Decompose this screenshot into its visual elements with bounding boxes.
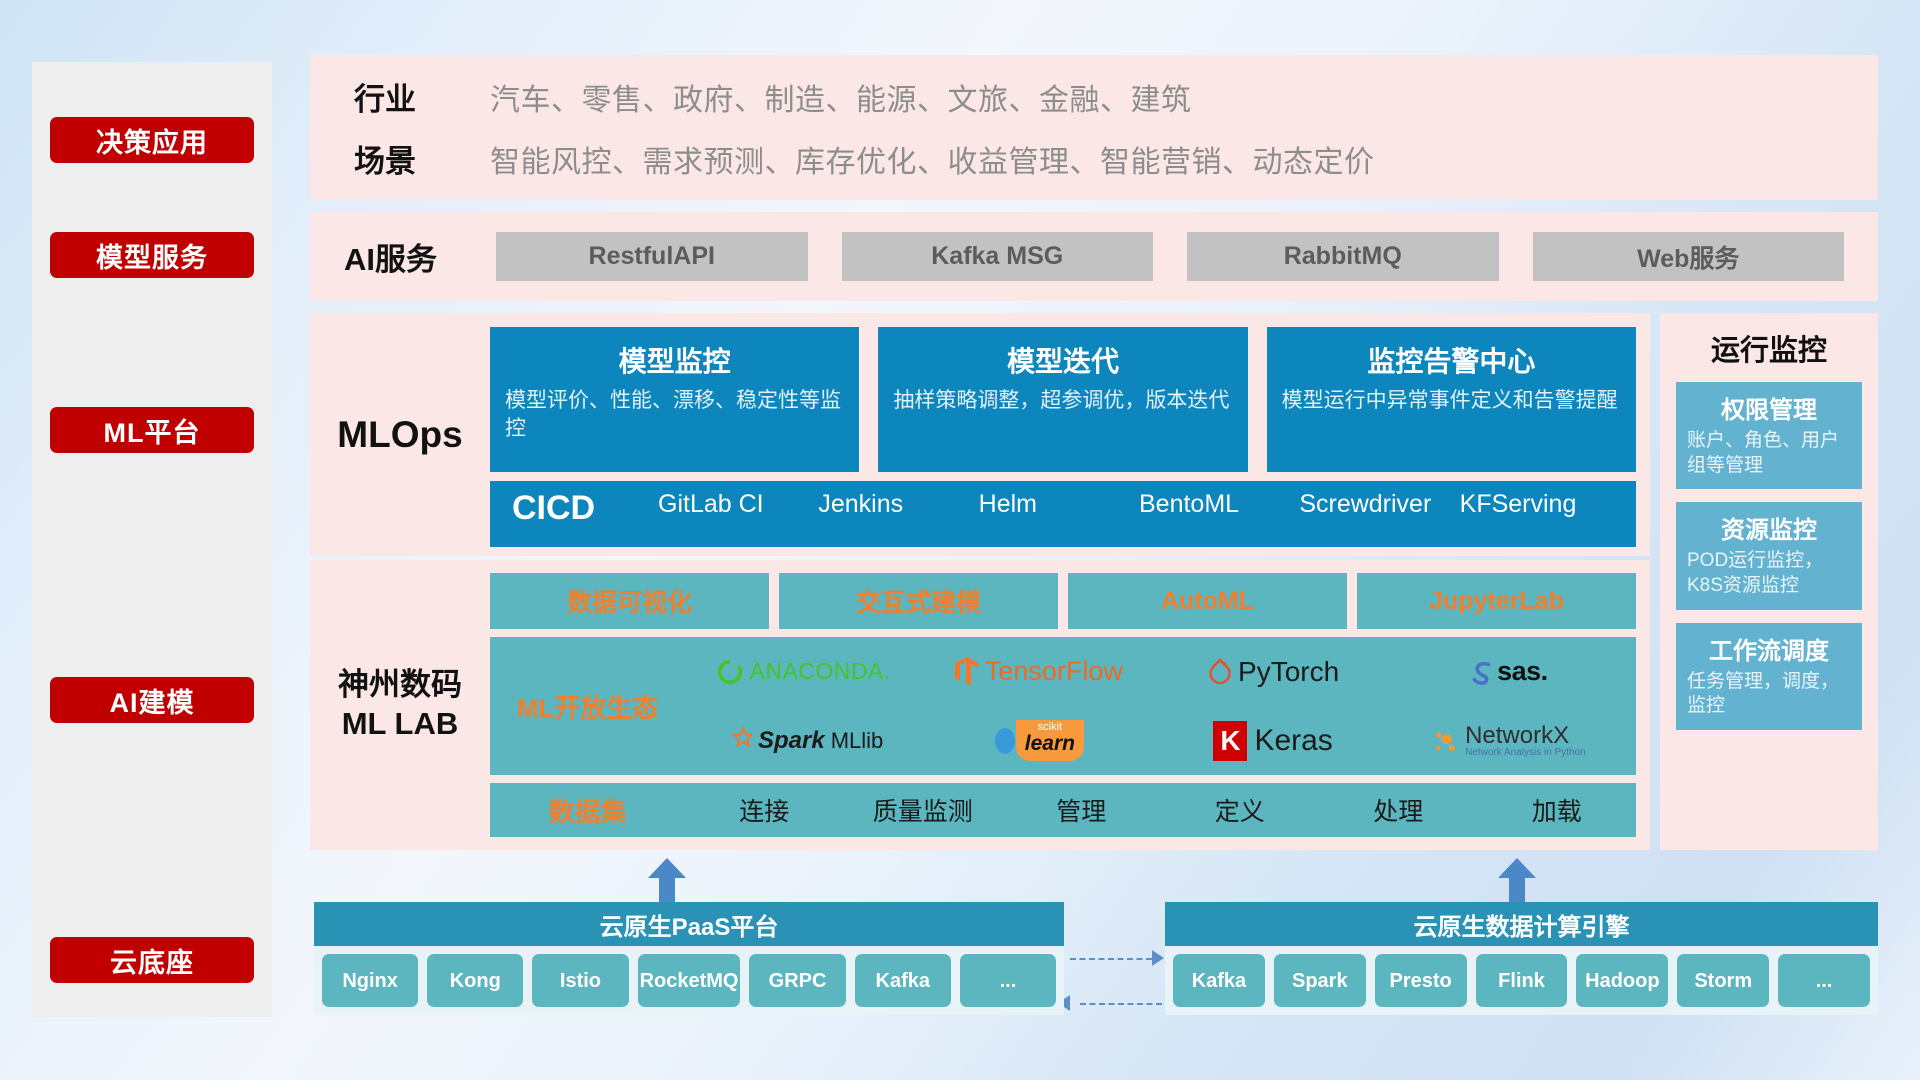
compute-chip-list: Kafka Spark Presto Flink Hadoop Storm ..… xyxy=(1165,946,1878,1015)
cicd-item-kfserving[interactable]: KFServing xyxy=(1454,489,1614,519)
ai-modeling-panel: 神州数码 ML LAB 数据可视化 交互式建模 AutoML JupyterLa… xyxy=(310,560,1650,850)
runtime-monitoring-panel: 运行监控 权限管理 账户、角色、用户组等管理 资源监控 POD运行监控，K8S资… xyxy=(1660,313,1878,850)
layer-rail: 决策应用 模型服务 ML平台 AI建模 云底座 xyxy=(32,62,272,1017)
paas-chip-istio[interactable]: Istio xyxy=(532,954,628,1007)
dataset-label: 数据集 xyxy=(490,792,685,829)
scenario-key: 场景 xyxy=(310,136,490,181)
card-title: 监控告警中心 xyxy=(1282,340,1621,380)
mlops-card-list: 模型监控 模型评价、性能、漂移、稳定性等监控 模型迭代 抽样策略调整，超参调优，… xyxy=(490,327,1636,472)
rail-label: ML平台 xyxy=(104,411,201,450)
scenario-row: 场景 智能风控、需求预测、库存优化、收益管理、智能营销、动态定价 xyxy=(310,128,1878,190)
spark-mllib-logo: Spark MLlib xyxy=(722,726,883,756)
rail-item-cloud-base[interactable]: 云底座 xyxy=(50,937,254,983)
paas-chip-kafka[interactable]: Kafka xyxy=(855,954,951,1007)
mlops-key: MLOps xyxy=(310,313,490,556)
mlops-panel: MLOps 模型监控 模型评价、性能、漂移、稳定性等监控 模型迭代 抽样策略调整… xyxy=(310,313,1650,556)
mlops-card-model-iteration[interactable]: 模型迭代 抽样策略调整，超参调优，版本迭代 xyxy=(878,327,1247,472)
dataset-item-define[interactable]: 定义 xyxy=(1161,792,1320,828)
paas-chip-nginx[interactable]: Nginx xyxy=(322,954,418,1007)
card-desc: 抽样策略调整，超参调优，版本迭代 xyxy=(893,387,1232,415)
rail-label: AI建模 xyxy=(110,681,195,720)
industry-value: 汽车、零售、政府、制造、能源、文旅、金融、建筑 xyxy=(490,75,1192,119)
ops-card-resource-monitoring[interactable]: 资源监控 POD运行监控，K8S资源监控 xyxy=(1676,502,1862,609)
dataset-item-load[interactable]: 加载 xyxy=(1478,792,1637,828)
ops-card-title: 权限管理 xyxy=(1687,390,1851,425)
compute-chip-kafka[interactable]: Kafka xyxy=(1173,954,1265,1007)
service-chip-restfulapi[interactable]: RestfulAPI xyxy=(496,232,808,281)
tensorflow-logo: TensorFlow xyxy=(953,656,1123,688)
rail-item-model-service[interactable]: 模型服务 xyxy=(50,232,254,278)
connector-right-arrowhead-icon xyxy=(1152,950,1164,966)
rail-item-ml-platform[interactable]: ML平台 xyxy=(50,407,254,453)
rail-label: 云底座 xyxy=(110,941,194,980)
cicd-item-bentoml[interactable]: BentoML xyxy=(1133,489,1293,519)
compute-title: 云原生数据计算引擎 xyxy=(1165,902,1878,946)
service-chip-kafka-msg[interactable]: Kafka MSG xyxy=(842,232,1154,281)
ai-service-panel: AI服务 RestfulAPI Kafka MSG RabbitMQ Web服务 xyxy=(310,212,1878,301)
ml-lab-key: 神州数码 ML LAB xyxy=(310,560,490,850)
card-title: 模型监控 xyxy=(505,340,844,380)
scenario-value: 智能风控、需求预测、库存优化、收益管理、智能营销、动态定价 xyxy=(490,137,1375,181)
compute-chip-flink[interactable]: Flink xyxy=(1476,954,1568,1007)
ops-card-desc: 任务管理，调度，监控 xyxy=(1687,670,1851,719)
anaconda-logo: ANACONDA. xyxy=(715,657,891,687)
service-chip-rabbitmq[interactable]: RabbitMQ xyxy=(1187,232,1499,281)
ops-card-desc: 账户、角色、用户组等管理 xyxy=(1687,429,1851,478)
dataset-row: 数据集 连接 质量监测 管理 定义 处理 加载 xyxy=(490,783,1636,837)
ai-service-key: AI服务 xyxy=(344,234,496,279)
rail-item-decision-apps[interactable]: 决策应用 xyxy=(50,117,254,163)
rail-label: 决策应用 xyxy=(96,121,208,160)
ops-card-permission-management[interactable]: 权限管理 账户、角色、用户组等管理 xyxy=(1676,382,1862,489)
card-desc: 模型评价、性能、漂移、稳定性等监控 xyxy=(505,387,844,442)
paas-chip-rocketmq[interactable]: RocketMQ xyxy=(638,954,741,1007)
decision-applications-panel: 行业 汽车、零售、政府、制造、能源、文旅、金融、建筑 场景 智能风控、需求预测、… xyxy=(310,55,1878,200)
ml-ecosystem-label: ML开放生态 xyxy=(490,637,685,775)
ops-card-desc: POD运行监控，K8S资源监控 xyxy=(1687,549,1851,598)
ml-lab-line2: ML LAB xyxy=(342,705,459,744)
keras-logo: K Keras xyxy=(1213,721,1332,761)
ml-lab-line1: 神州数码 xyxy=(338,666,462,705)
dataset-item-connect[interactable]: 连接 xyxy=(685,792,844,828)
connector-right-dashed xyxy=(1070,958,1152,960)
card-desc: 模型运行中异常事件定义和告警提醒 xyxy=(1282,387,1621,415)
tool-chip-automl[interactable]: AutoML xyxy=(1068,573,1347,629)
mlops-card-alert-center[interactable]: 监控告警中心 模型运行中异常事件定义和告警提醒 xyxy=(1267,327,1636,472)
ml-ecosystem-row: ML开放生态 ANACONDA. TensorFlow xyxy=(490,637,1636,775)
runtime-monitoring-title: 运行监控 xyxy=(1660,313,1878,369)
pytorch-logo: PyTorch xyxy=(1207,656,1339,688)
dataset-item-process[interactable]: 处理 xyxy=(1319,792,1478,828)
paas-chip-list: Nginx Kong Istio RocketMQ GRPC Kafka ... xyxy=(314,946,1064,1015)
compute-chip-presto[interactable]: Presto xyxy=(1375,954,1467,1007)
rail-label: 模型服务 xyxy=(96,236,208,275)
scikit-learn-logo: scikit learn xyxy=(992,720,1084,760)
compute-chip-storm[interactable]: Storm xyxy=(1677,954,1769,1007)
industry-row: 行业 汽车、零售、政府、制造、能源、文旅、金融、建筑 xyxy=(310,66,1878,128)
card-title: 模型迭代 xyxy=(893,340,1232,380)
tool-chip-jupyterlab[interactable]: JupyterLab xyxy=(1357,573,1636,629)
dataset-item-manage[interactable]: 管理 xyxy=(1002,792,1161,828)
ops-card-title: 资源监控 xyxy=(1687,510,1851,545)
compute-chip-hadoop[interactable]: Hadoop xyxy=(1576,954,1668,1007)
compute-chip-more[interactable]: ... xyxy=(1778,954,1870,1007)
networkx-logo: NetworkX Network Analysis in Python xyxy=(1431,724,1586,758)
service-chip-web[interactable]: Web服务 xyxy=(1533,232,1845,281)
cicd-title: CICD xyxy=(512,489,652,528)
rail-item-ai-modeling[interactable]: AI建模 xyxy=(50,677,254,723)
cloud-native-paas-box: 云原生PaaS平台 Nginx Kong Istio RocketMQ GRPC… xyxy=(314,902,1064,1015)
tool-chip-interactive-modeling[interactable]: 交互式建模 xyxy=(779,573,1058,629)
paas-chip-grpc[interactable]: GRPC xyxy=(749,954,845,1007)
paas-title: 云原生PaaS平台 xyxy=(314,902,1064,946)
paas-chip-more[interactable]: ... xyxy=(960,954,1056,1007)
diagram-canvas: 决策应用 模型服务 ML平台 AI建模 云底座 行业 汽车、零售、政府、制造、能… xyxy=(0,0,1920,1080)
compute-up-arrow-icon xyxy=(1495,858,1539,902)
cicd-item-helm[interactable]: Helm xyxy=(973,489,1133,519)
mlops-card-model-monitoring[interactable]: 模型监控 模型评价、性能、漂移、稳定性等监控 xyxy=(490,327,859,472)
compute-chip-spark[interactable]: Spark xyxy=(1274,954,1366,1007)
tool-chip-data-visualization[interactable]: 数据可视化 xyxy=(490,573,769,629)
cloud-native-compute-box: 云原生数据计算引擎 Kafka Spark Presto Flink Hadoo… xyxy=(1165,902,1878,1015)
cicd-item-screwdriver[interactable]: Screwdriver xyxy=(1293,489,1453,519)
cicd-item-gitlab-ci[interactable]: GitLab CI xyxy=(652,489,812,519)
cicd-strip: CICD GitLab CI Jenkins Helm BentoML Scre… xyxy=(490,481,1636,547)
sas-logo: sas. xyxy=(1469,656,1548,687)
modeling-tool-list: 数据可视化 交互式建模 AutoML JupyterLab xyxy=(490,573,1636,629)
industry-key: 行业 xyxy=(310,74,490,119)
ops-card-workflow-scheduling[interactable]: 工作流调度 任务管理，调度，监控 xyxy=(1676,623,1862,730)
paas-chip-kong[interactable]: Kong xyxy=(427,954,523,1007)
paas-up-arrow-icon xyxy=(645,858,689,902)
ai-service-chip-list: RestfulAPI Kafka MSG RabbitMQ Web服务 xyxy=(496,232,1844,281)
cicd-item-jenkins[interactable]: Jenkins xyxy=(812,489,972,519)
dataset-item-quality[interactable]: 质量监测 xyxy=(844,792,1003,828)
connector-left-dashed xyxy=(1080,1003,1162,1005)
ml-ecosystem-logo-grid: ANACONDA. TensorFlow PyTorch xyxy=(685,637,1636,775)
ops-card-title: 工作流调度 xyxy=(1687,631,1851,666)
